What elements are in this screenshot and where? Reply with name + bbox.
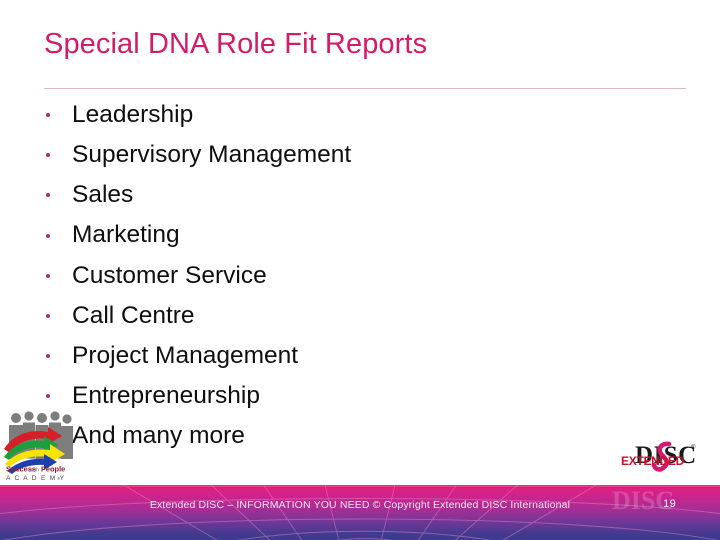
extended-disc-logo: DISC ® EXTENDED xyxy=(613,437,709,481)
bullet-list: Leadership Supervisory Management Sales … xyxy=(44,95,684,457)
svg-text:®: ® xyxy=(691,444,696,451)
extended-wordmark: EXTENDED xyxy=(621,454,685,468)
list-item-label: Leadership xyxy=(72,103,193,128)
list-item-label: Call Centre xyxy=(72,304,195,329)
footer-bar: DISC Extended DISC – INFORMATION YOU NEE… xyxy=(0,485,720,540)
bullet-dot-icon xyxy=(46,394,50,398)
list-item: Customer Service xyxy=(44,256,684,296)
list-item-label: Marketing xyxy=(72,223,180,248)
bullet-dot-icon xyxy=(46,274,50,278)
page-title: Special DNA Role Fit Reports xyxy=(44,28,427,61)
bullet-dot-icon xyxy=(46,113,50,117)
slide-number: 19 xyxy=(663,498,676,510)
list-item-label: Sales xyxy=(72,183,133,208)
list-item-label: Project Management xyxy=(72,344,298,369)
slide-canvas: Special DNA Role Fit Reports Leadership … xyxy=(0,0,720,540)
list-item-label: And many more xyxy=(72,424,245,449)
list-item-label: Supervisory Management xyxy=(72,143,351,168)
svg-text:with: with xyxy=(28,468,39,474)
academy-wordmark: Success with People A C A D E M Y ® xyxy=(6,465,65,483)
svg-text:®: ® xyxy=(57,476,60,481)
list-item: Sales xyxy=(44,175,684,215)
bullet-dot-icon xyxy=(46,153,50,157)
title-divider xyxy=(44,88,686,89)
list-item: Leadership xyxy=(44,95,684,135)
list-item: Marketing xyxy=(44,216,684,256)
success-with-people-academy-logo: Success with People A C A D E M Y ® xyxy=(2,409,80,485)
footer-copyright-text: Extended DISC – INFORMATION YOU NEED © C… xyxy=(0,499,720,511)
list-item: Call Centre xyxy=(44,296,684,336)
bullet-dot-icon xyxy=(46,234,50,238)
list-item-label: Entrepreneurship xyxy=(72,384,260,409)
list-item: Project Management xyxy=(44,336,684,376)
list-item: Supervisory Management xyxy=(44,135,684,175)
bullet-dot-icon xyxy=(46,193,50,197)
list-item: Entrepreneurship xyxy=(44,376,684,416)
list-item: And many more xyxy=(44,417,684,457)
bullet-dot-icon xyxy=(46,314,50,318)
bullet-dot-icon xyxy=(46,354,50,358)
svg-text:People: People xyxy=(41,465,65,474)
list-item-label: Customer Service xyxy=(72,264,267,289)
